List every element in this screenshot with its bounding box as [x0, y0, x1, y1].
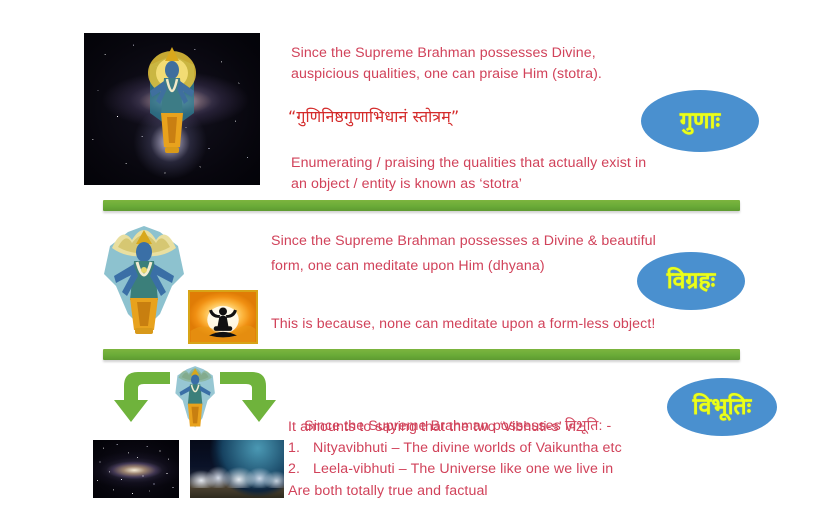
guna-explanation-line-1: Enumerating / praising the qualities tha…	[291, 153, 646, 173]
standing-vishnu-image	[88, 218, 200, 336]
divider-1	[103, 200, 740, 211]
badge-vibhutih-label: विभूतिः	[693, 396, 752, 419]
badge-vibhutih[interactable]: विभूतिः	[667, 378, 777, 436]
badge-gunah-label: गुणाः	[680, 110, 720, 133]
divider-2	[103, 349, 740, 360]
vigraha-line-1: Since the Supreme Brahman possesses a Di…	[271, 231, 656, 251]
vibhuti-line-2: It amounts to saying that the two ‘Vibhu…	[288, 417, 587, 437]
badge-vigrahah-label: विग्रहः	[667, 270, 716, 293]
vibhuti-list-item-2: Leela-vibhuti – The Universe like one we…	[313, 459, 613, 479]
vishnu-figure-icon	[136, 43, 208, 161]
vibhuti-list-item-1-num: 1.	[288, 438, 300, 458]
vigraha-line-2: form, one can meditate upon Him (dhyana)	[271, 256, 545, 276]
guna-line-1: Since the Supreme Brahman possesses Divi…	[291, 43, 596, 63]
guna-line-2: auspicious qualities, one can praise Him…	[291, 64, 602, 84]
cloud-layer	[190, 463, 284, 487]
badge-gunah[interactable]: गुणाः	[641, 90, 759, 152]
vibhuti-closing-line: Are both totally true and factual	[288, 481, 488, 501]
galaxy-starfield	[93, 440, 179, 498]
vishnu-in-galaxy-image	[84, 33, 260, 185]
badge-vigrahah[interactable]: विग्रहः	[637, 252, 745, 310]
galaxy-thumbnail	[93, 440, 179, 498]
earth-from-space-thumbnail	[190, 440, 284, 498]
vibhuti-list-item-2-num: 2.	[288, 459, 300, 479]
meditation-yoga-icon	[188, 290, 258, 344]
vibhuti-list-item-1: Nityavibhuti – The divine worlds of Vaik…	[313, 438, 622, 458]
vishnu-with-arrows-image	[100, 362, 290, 434]
slide-canvas: Since the Supreme Brahman possesses Divi…	[0, 0, 840, 510]
vigraha-explanation: This is because, none can meditate upon …	[271, 314, 655, 334]
guna-explanation-line-2: an object / entity is known as ‘stotra’	[291, 174, 522, 194]
guna-sanskrit-quote: “गुणिनिष्ठगुणाभिधानं स्तोत्रम्”	[288, 107, 459, 127]
